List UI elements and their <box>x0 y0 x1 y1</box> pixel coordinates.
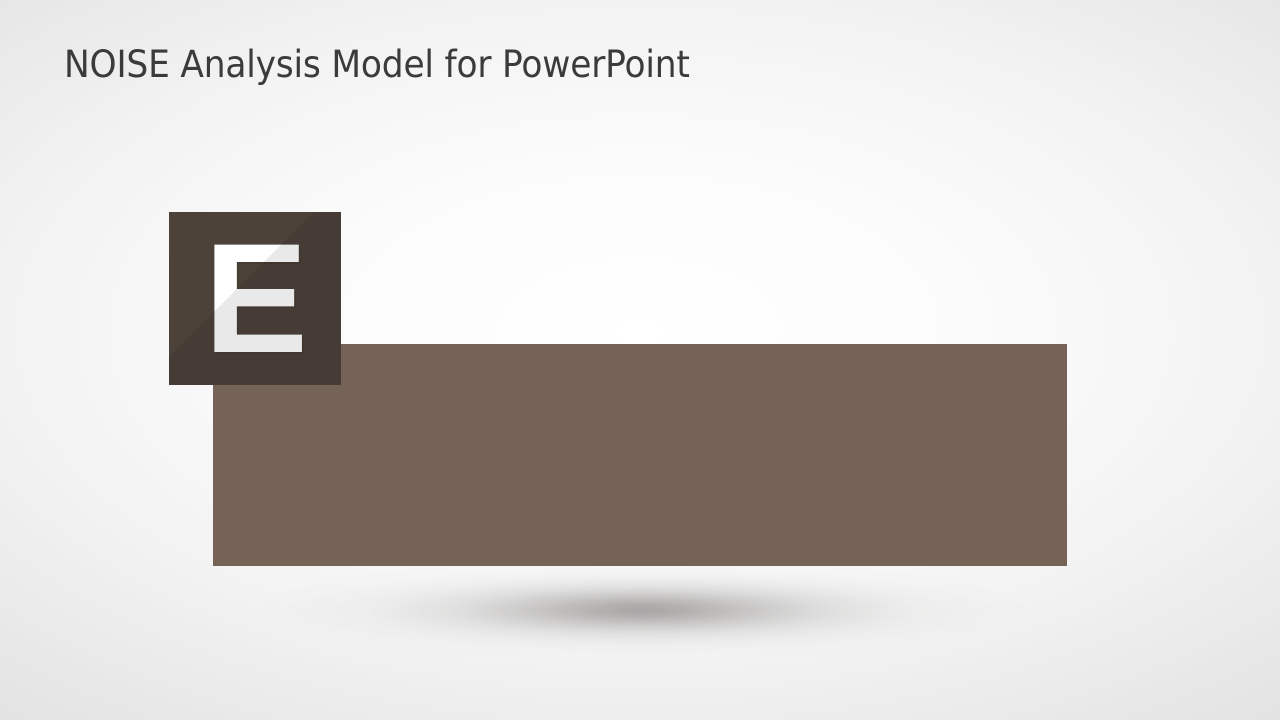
letter-glyph: E <box>169 212 341 385</box>
letter-e-tile[interactable]: E <box>169 212 341 385</box>
floor-shadow <box>255 567 1030 653</box>
page-title: NOISE Analysis Model for PowerPoint <box>64 42 690 88</box>
slide-canvas: NOISE Analysis Model for PowerPoint <box>0 0 1280 720</box>
content-bar[interactable]: Exceptions This is a sample text. Insert… <box>213 344 1067 566</box>
